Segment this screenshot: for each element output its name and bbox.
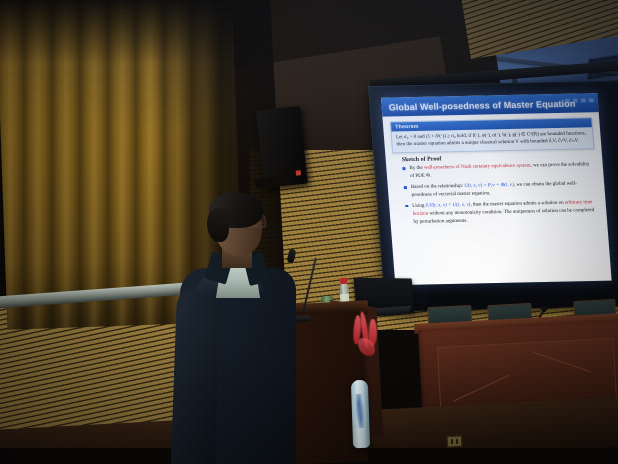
speaker-brand-logo-icon [296, 170, 301, 175]
bullet-3-formula: ∂ₓV(t, x, ν) = U(t, x, ν) [425, 202, 470, 208]
blue-white-porcelain-vase [351, 380, 370, 449]
slide-body: Theorem Let σ₀ > 0 and (1 + δ²(·)) ≥ σ₀ … [382, 112, 607, 227]
bullet-2-formula: U(t, x, ν) = Pₓν + Φ(t, ν) [464, 183, 514, 189]
presentation-slide: Global Well-posedness of Master Equation… [381, 93, 612, 285]
theorem-line-1: Let σ₀ > 0 and (1 + δ²(·)) ≥ σ₀ hold, if… [396, 132, 526, 140]
wall-mounted-loudspeaker [256, 106, 308, 188]
theorem-text: Let σ₀ > 0 and (1 + δ²(·)) ≥ σ₀ hold, if… [392, 127, 594, 152]
slide-nav-icons[interactable] [565, 98, 594, 103]
proof-bullet-2: Based on the relationship: U(t, x, ν) = … [411, 180, 596, 200]
theorem-box: Theorem Let σ₀ > 0 and (1 + δ²(·)) ≥ σ₀ … [390, 117, 595, 153]
bullet-1-pre: By the [409, 166, 424, 171]
bullet-1-highlight: well-posedness of Nash certainty equival… [424, 163, 531, 170]
bullet-3-post: without any monotonicity condition. The … [413, 208, 594, 225]
podium-red-emblem [351, 310, 384, 362]
bottle-cap [340, 278, 347, 284]
theorem-line-3: classical solution V with bounded ∂ₓV, ∂… [480, 139, 579, 146]
proof-bullet-list: By the well-posedness of Nash certainty … [393, 161, 600, 227]
floor-power-outlet [447, 436, 463, 448]
bullet-3-mid: , then the master equation admits a solu… [470, 200, 565, 207]
presenter-arm [171, 285, 221, 464]
presenter-hair-back [207, 208, 229, 242]
desk-chevron-right [532, 351, 591, 372]
projection-screen[interactable]: Global Well-posedness of Master Equation… [368, 81, 618, 312]
presenter [176, 190, 326, 464]
desk-chevron-left [453, 375, 510, 402]
slide-title: Global Well-posedness of Master Equation [381, 98, 575, 112]
lecture-hall-photo: Global Well-posedness of Master Equation… [0, 0, 618, 464]
proof-bullet-3: Using ∂ₓV(t, x, ν) = U(t, x, ν), then th… [412, 199, 598, 227]
bullet-3-pre: Using [412, 203, 426, 208]
bullet-2-pre: Based on the relationship: [411, 184, 465, 190]
proof-bullet-1: By the well-posedness of Nash certainty … [409, 161, 594, 181]
